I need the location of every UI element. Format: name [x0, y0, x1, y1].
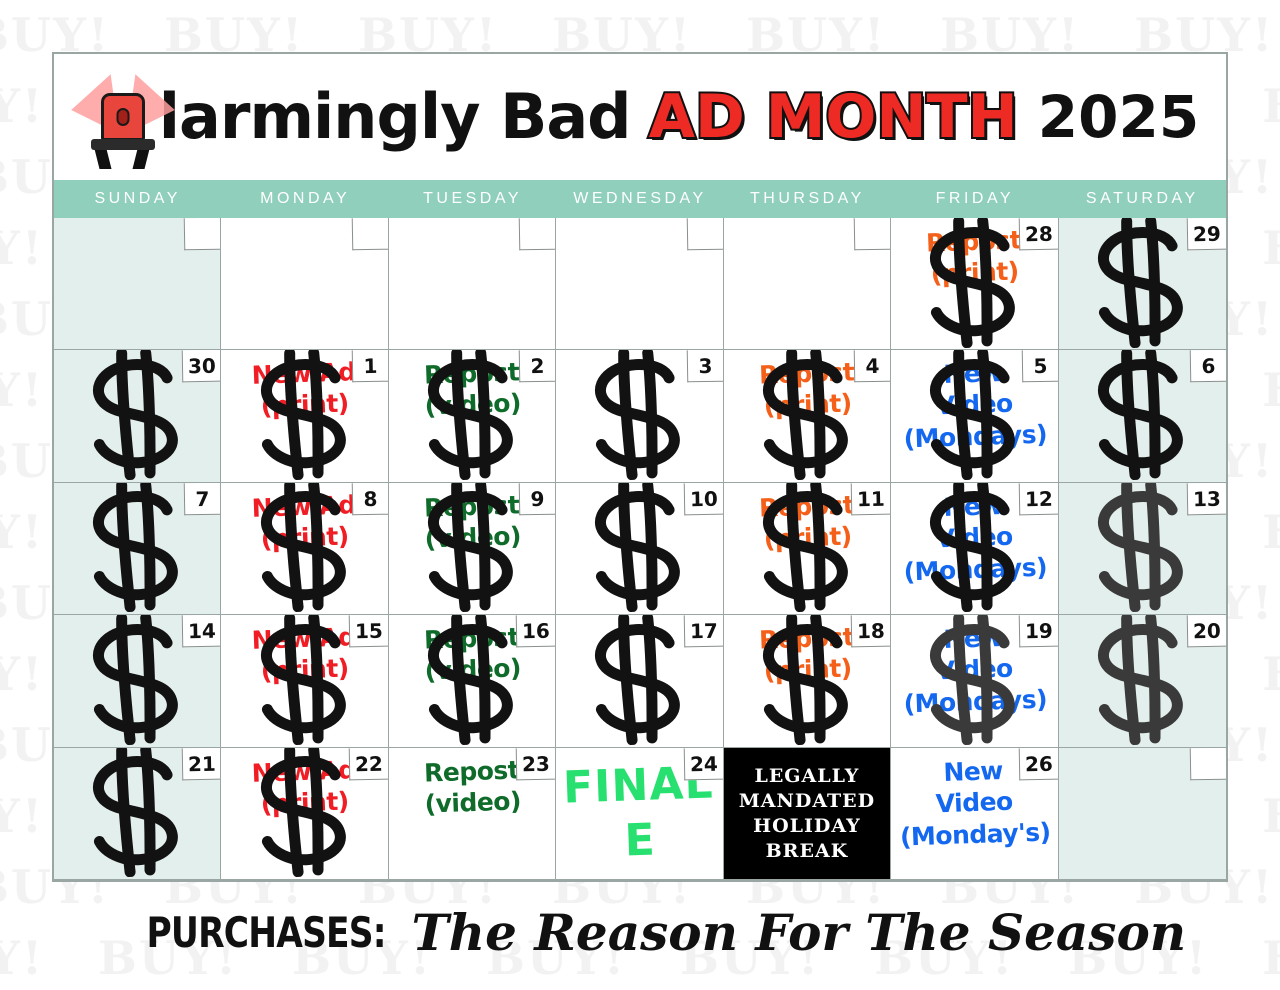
- calendar-cell-empty[interactable]: [54, 218, 221, 350]
- date-number-box: [184, 218, 221, 250]
- date-number-box: 16: [516, 615, 555, 647]
- day-note-line: (print): [225, 387, 384, 424]
- day-note-line: (print): [728, 387, 887, 424]
- calendar-cell-28[interactable]: Repost(print)28: [891, 218, 1058, 350]
- calendar-cell-14[interactable]: 14: [54, 615, 221, 747]
- day-note-line: (print): [895, 254, 1054, 291]
- calendar-cell-18[interactable]: Repost(print)18: [724, 615, 891, 747]
- day-note-line: (Mondays): [896, 551, 1055, 588]
- title-year: 2025: [1038, 88, 1199, 146]
- calendar-grid: Repost(print)282930New Ad(print)1Repost(…: [54, 218, 1226, 880]
- blackout-line: LEGALLY: [754, 765, 859, 787]
- calendar-cell-2[interactable]: Repost(video)2: [389, 350, 556, 482]
- date-number-box: 5: [1021, 350, 1058, 382]
- calendar-cell-4[interactable]: Repost(print)4: [724, 350, 891, 482]
- blackout-line: MANDATED: [739, 790, 875, 812]
- date-number-box: 14: [181, 615, 220, 647]
- date-number-box: [519, 218, 556, 250]
- date-number-box: 23: [516, 748, 555, 780]
- weekday-label-monday: MONDAY: [221, 180, 388, 218]
- date-number-box: 29: [1187, 218, 1226, 250]
- date-number-box: 22: [349, 748, 388, 780]
- dollar-sign-scribble: [74, 483, 201, 615]
- calendar-cell-13[interactable]: 13: [1059, 483, 1226, 615]
- date-number-box: 26: [1018, 748, 1057, 780]
- weekday-label-tuesday: TUESDAY: [389, 180, 556, 218]
- date-number-box: 28: [1018, 218, 1057, 250]
- blackout-line: HOLIDAY: [753, 815, 861, 837]
- date-number-box: 20: [1187, 615, 1226, 647]
- date-number-box: [686, 218, 723, 250]
- day-note-line: (Mondays): [896, 418, 1055, 455]
- date-number-box: 7: [184, 483, 221, 515]
- day-note-line: (Mondays): [896, 683, 1055, 720]
- date-number-box: 19: [1018, 615, 1057, 647]
- calendar-cell-7[interactable]: 7: [54, 483, 221, 615]
- date-number-box: 4: [854, 350, 891, 382]
- dollar-sign-scribble: [1079, 350, 1206, 482]
- calendar-cell-26[interactable]: NewVideo(Monday's)26: [891, 748, 1058, 880]
- date-number-box: [854, 218, 891, 250]
- calendar-cell-10[interactable]: 10: [556, 483, 723, 615]
- day-note-line: (video): [393, 387, 552, 424]
- calendar-cell-empty[interactable]: [221, 218, 388, 350]
- date-number-box: 3: [686, 350, 723, 382]
- date-number-box: 13: [1187, 483, 1226, 515]
- date-number-box: 2: [519, 350, 556, 382]
- calendar-cell-22[interactable]: New Ad(print)22: [221, 748, 388, 880]
- date-number-box: 12: [1018, 483, 1057, 515]
- calendar-cell-3[interactable]: 3: [556, 350, 723, 482]
- calendar-cell-24[interactable]: FINALE24: [556, 748, 723, 880]
- weekday-label-friday: FRIDAY: [891, 180, 1058, 218]
- calendar-cell-empty[interactable]: [389, 218, 556, 350]
- siren-alarm-icon: [81, 71, 165, 167]
- date-number-box: 18: [851, 615, 890, 647]
- calendar-cell-empty[interactable]: [724, 218, 891, 350]
- date-number-box: 10: [684, 483, 723, 515]
- calendar-container: larmingly Bad AD MONTH 2025 SUNDAYMONDAY…: [52, 52, 1228, 882]
- title-accent: AD MONTH: [649, 87, 1018, 147]
- calendar-cell-30[interactable]: 30: [54, 350, 221, 482]
- calendar-cell-5[interactable]: NewVideo(Mondays)5: [891, 350, 1058, 482]
- date-number-box: [352, 218, 389, 250]
- date-number-box: [1190, 748, 1226, 780]
- calendar-cell-19[interactable]: NewVideo(Mondays)19: [891, 615, 1058, 747]
- calendar-cell-empty[interactable]: [556, 218, 723, 350]
- footer-script-text: The Reason For The Season: [412, 903, 1187, 962]
- date-number-box: 9: [519, 483, 556, 515]
- dollar-sign-scribble: [576, 350, 703, 482]
- date-number-box: 17: [684, 615, 723, 647]
- date-number-box: 6: [1190, 350, 1226, 382]
- date-number-box: 15: [349, 615, 388, 647]
- day-note-line: Video: [895, 784, 1054, 821]
- date-number-box: 30: [181, 350, 220, 382]
- footer-tagline: PURCHASES: The Reason For The Season: [0, 892, 1280, 972]
- day-note-line: (video): [393, 784, 552, 821]
- weekday-header-row: SUNDAYMONDAYTUESDAYWEDNESDAYTHURSDAYFRID…: [54, 180, 1226, 218]
- calendar-cell-15[interactable]: New Ad(print)15: [221, 615, 388, 747]
- calendar-cell-11[interactable]: Repost(print)11: [724, 483, 891, 615]
- day-note-line: (video): [393, 652, 552, 689]
- day-note-line: (video): [393, 519, 552, 556]
- date-number-box: 11: [851, 483, 890, 515]
- calendar-cell-23[interactable]: Repost(video)23: [389, 748, 556, 880]
- calendar-cell-9[interactable]: Repost(video)9: [389, 483, 556, 615]
- title-main: larmingly Bad: [159, 86, 631, 148]
- calendar-cell-29[interactable]: 29: [1059, 218, 1226, 350]
- day-note-line: (print): [225, 652, 384, 689]
- date-number-box: 24: [684, 748, 723, 780]
- day-note-line: (print): [225, 519, 384, 556]
- calendar-title-bar: larmingly Bad AD MONTH 2025: [54, 54, 1226, 180]
- day-note-line: (print): [225, 784, 384, 821]
- date-number-box: 21: [181, 748, 220, 780]
- date-number-box: 1: [352, 350, 389, 382]
- weekday-label-thursday: THURSDAY: [724, 180, 891, 218]
- blackout-line: BREAK: [766, 840, 849, 862]
- calendar-cell-8[interactable]: New Ad(print)8: [221, 483, 388, 615]
- calendar-cell-empty[interactable]: [1059, 748, 1226, 880]
- day-note-line: (Monday's): [896, 815, 1055, 852]
- calendar-cell-17[interactable]: 17: [556, 615, 723, 747]
- calendar-cell-1[interactable]: New Ad(print)1: [221, 350, 388, 482]
- footer-bold-text: PURCHASES:: [146, 908, 385, 957]
- calendar-cell-20[interactable]: 20: [1059, 615, 1226, 747]
- weekday-label-sunday: SUNDAY: [54, 180, 221, 218]
- calendar-cell-blackout[interactable]: LEGALLYMANDATEDHOLIDAYBREAK: [724, 748, 891, 880]
- calendar-cell-16[interactable]: Repost(video)16: [389, 615, 556, 747]
- calendar-cell-6[interactable]: 6: [1059, 350, 1226, 482]
- day-note-line: (print): [728, 519, 887, 556]
- blackout-message: LEGALLYMANDATEDHOLIDAYBREAK: [724, 748, 890, 879]
- calendar-cell-21[interactable]: 21: [54, 748, 221, 880]
- weekday-label-saturday: SATURDAY: [1059, 180, 1226, 218]
- calendar-cell-12[interactable]: NewVideo(Mondays)12: [891, 483, 1058, 615]
- day-note-line: (print): [728, 652, 887, 689]
- weekday-label-wednesday: WEDNESDAY: [556, 180, 723, 218]
- date-number-box: 8: [352, 483, 389, 515]
